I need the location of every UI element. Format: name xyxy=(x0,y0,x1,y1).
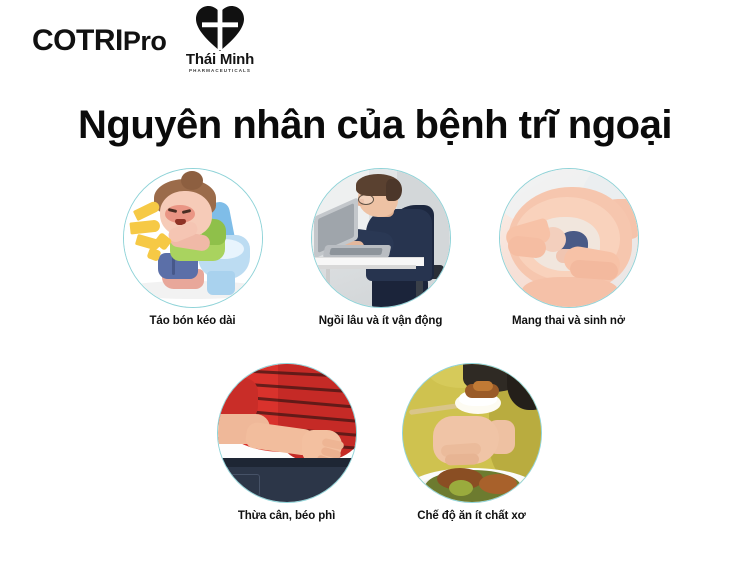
cause-card-sedentary: Ngồi lâu và ít vận động xyxy=(288,168,473,327)
cotripro-logo-prefix: COTRI xyxy=(32,24,123,57)
cotripro-logo: COTRIPro xyxy=(32,24,166,58)
pregnant-belly-photo xyxy=(499,168,639,308)
thai-minh-subtitle: PHARMACEUTICALS xyxy=(168,68,272,73)
page-title: Nguyên nhân của bệnh trĩ ngoại xyxy=(0,103,750,148)
office-worker-laptop-photo xyxy=(311,168,451,308)
heart-cross-icon xyxy=(196,6,244,52)
thai-minh-name: Thái Minh xyxy=(168,51,272,68)
cause-caption: Ngồi lâu và ít vận động xyxy=(288,315,473,327)
header-logos: COTRIPro Thái Minh PHARMACEUTICALS xyxy=(0,0,750,90)
cause-caption: Táo bón kéo dài xyxy=(100,315,285,327)
cotripro-logo-suffix: Pro xyxy=(123,26,167,56)
thai-minh-logo: Thái Minh PHARMACEUTICALS xyxy=(168,6,272,78)
cause-card-constipation: Táo bón kéo dài xyxy=(100,168,285,327)
overweight-abdomen-photo xyxy=(217,363,357,503)
constipation-toilet-illustration xyxy=(123,168,263,308)
cause-caption: Thừa cân, béo phì xyxy=(194,510,379,522)
cause-caption: Chế độ ăn ít chất xơ xyxy=(379,510,564,522)
cause-card-pregnancy: Mang thai và sinh nở xyxy=(476,168,661,327)
low-fiber-meal-photo xyxy=(402,363,542,503)
cause-card-obesity: Thừa cân, béo phì xyxy=(194,363,379,522)
cause-card-low-fiber: Chế độ ăn ít chất xơ xyxy=(379,363,564,522)
cause-caption: Mang thai và sinh nở xyxy=(476,315,661,327)
